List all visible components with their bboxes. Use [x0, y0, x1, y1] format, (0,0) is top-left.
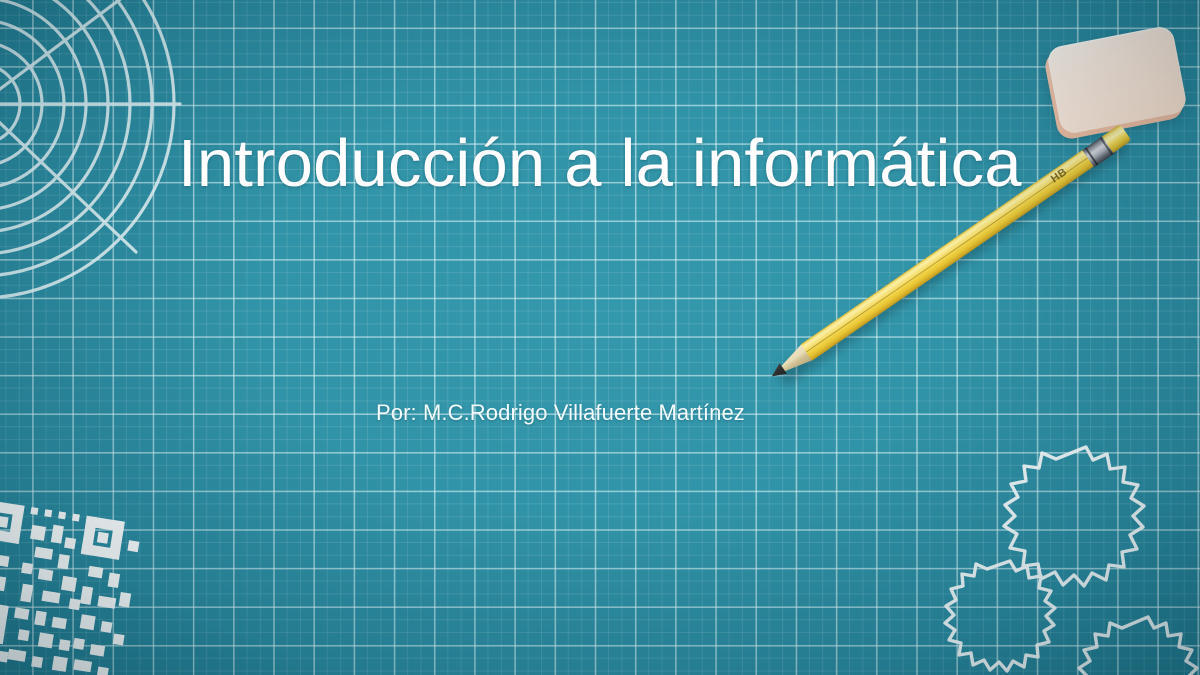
slide-title: Introducción a la informática: [178, 129, 1022, 199]
background-grid: [0, 0, 1200, 675]
presentation-slide: HB Introducción a la informática Por: M.…: [0, 0, 1200, 675]
slide-subtitle: Por: M.C.Rodrigo Villafuerte Martínez: [376, 400, 745, 426]
